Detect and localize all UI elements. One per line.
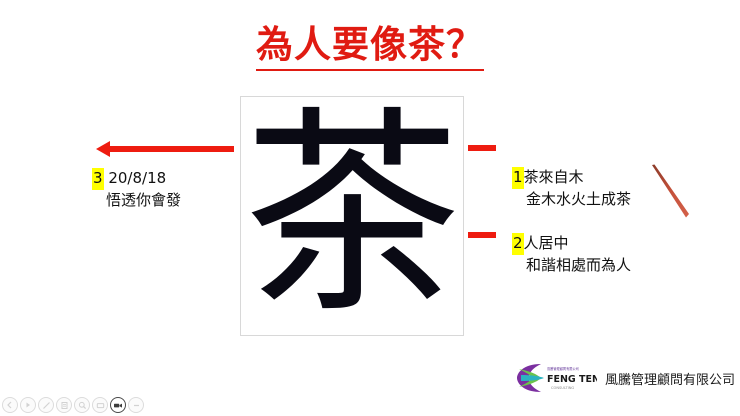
annotation-right-top-number: 1: [512, 167, 524, 189]
annotation-right-bottom-line2: 和諧相處而為人: [512, 255, 631, 277]
arrow-right-bottom-shaft: [468, 232, 496, 238]
slide-canvas: 為人要像茶？ 茶 3 20/8/18 悟透你會發 1茶來自木 金木水火土成茶 2…: [0, 0, 740, 416]
page-title: 為人要像茶？: [256, 24, 484, 71]
pen-icon-button[interactable]: [38, 397, 54, 413]
title-container: 為人要像茶？: [0, 24, 740, 71]
svg-text:風騰管理顧問有限公司: 風騰管理顧問有限公司: [547, 366, 579, 371]
character-image-box: 茶: [240, 96, 464, 336]
annotation-right-top-line2: 金木水火土成茶: [512, 189, 631, 211]
svg-text:CONSULTING: CONSULTING: [551, 386, 574, 390]
presentation-toolbar[interactable]: [2, 396, 144, 414]
ellipsis-icon-button[interactable]: [128, 397, 144, 413]
annotation-left-text1: 20/8/18: [108, 169, 166, 187]
arrow-left-shaft: [109, 146, 234, 152]
next-slide-button[interactable]: [20, 397, 36, 413]
notes-icon-button[interactable]: [56, 397, 72, 413]
footer-logo: 風騰管理顧問有限公司 FENG TENG CONSULTING 風騰管理顧問有限…: [511, 360, 726, 396]
brush-stroke-decoration: [651, 164, 691, 218]
annotation-right-top-text1: 茶來自木: [524, 168, 584, 186]
annotation-right-bottom-number: 2: [512, 233, 524, 255]
annotation-left-line1: 3 20/8/18: [92, 168, 181, 190]
screen-icon-button[interactable]: [92, 397, 108, 413]
annotation-left-number: 3: [92, 168, 104, 190]
feng-teng-logo-icon: 風騰管理顧問有限公司 FENG TENG CONSULTING: [511, 361, 597, 395]
annotation-left-line2: 悟透你會發: [92, 190, 181, 212]
annotation-right-top: 1茶來自木 金木水火土成茶: [512, 167, 631, 211]
annotation-right-bottom: 2人居中 和諧相處而為人: [512, 233, 631, 277]
annotation-right-bottom-line1: 2人居中: [512, 233, 631, 255]
annotation-left: 3 20/8/18 悟透你會發: [92, 168, 181, 212]
video-camera-icon-button[interactable]: [110, 397, 126, 413]
center-character: 茶: [241, 107, 463, 325]
annotation-right-top-line1: 1茶來自木: [512, 167, 631, 189]
arrow-right-top-shaft: [468, 145, 496, 151]
annotation-right-bottom-text1: 人居中: [524, 234, 569, 252]
previous-slide-button[interactable]: [2, 397, 18, 413]
arrow-left-head: [96, 141, 110, 157]
svg-text:FENG TENG: FENG TENG: [547, 374, 597, 385]
magnifier-icon-button[interactable]: [74, 397, 90, 413]
company-name: 風騰管理顧問有限公司: [605, 369, 735, 388]
